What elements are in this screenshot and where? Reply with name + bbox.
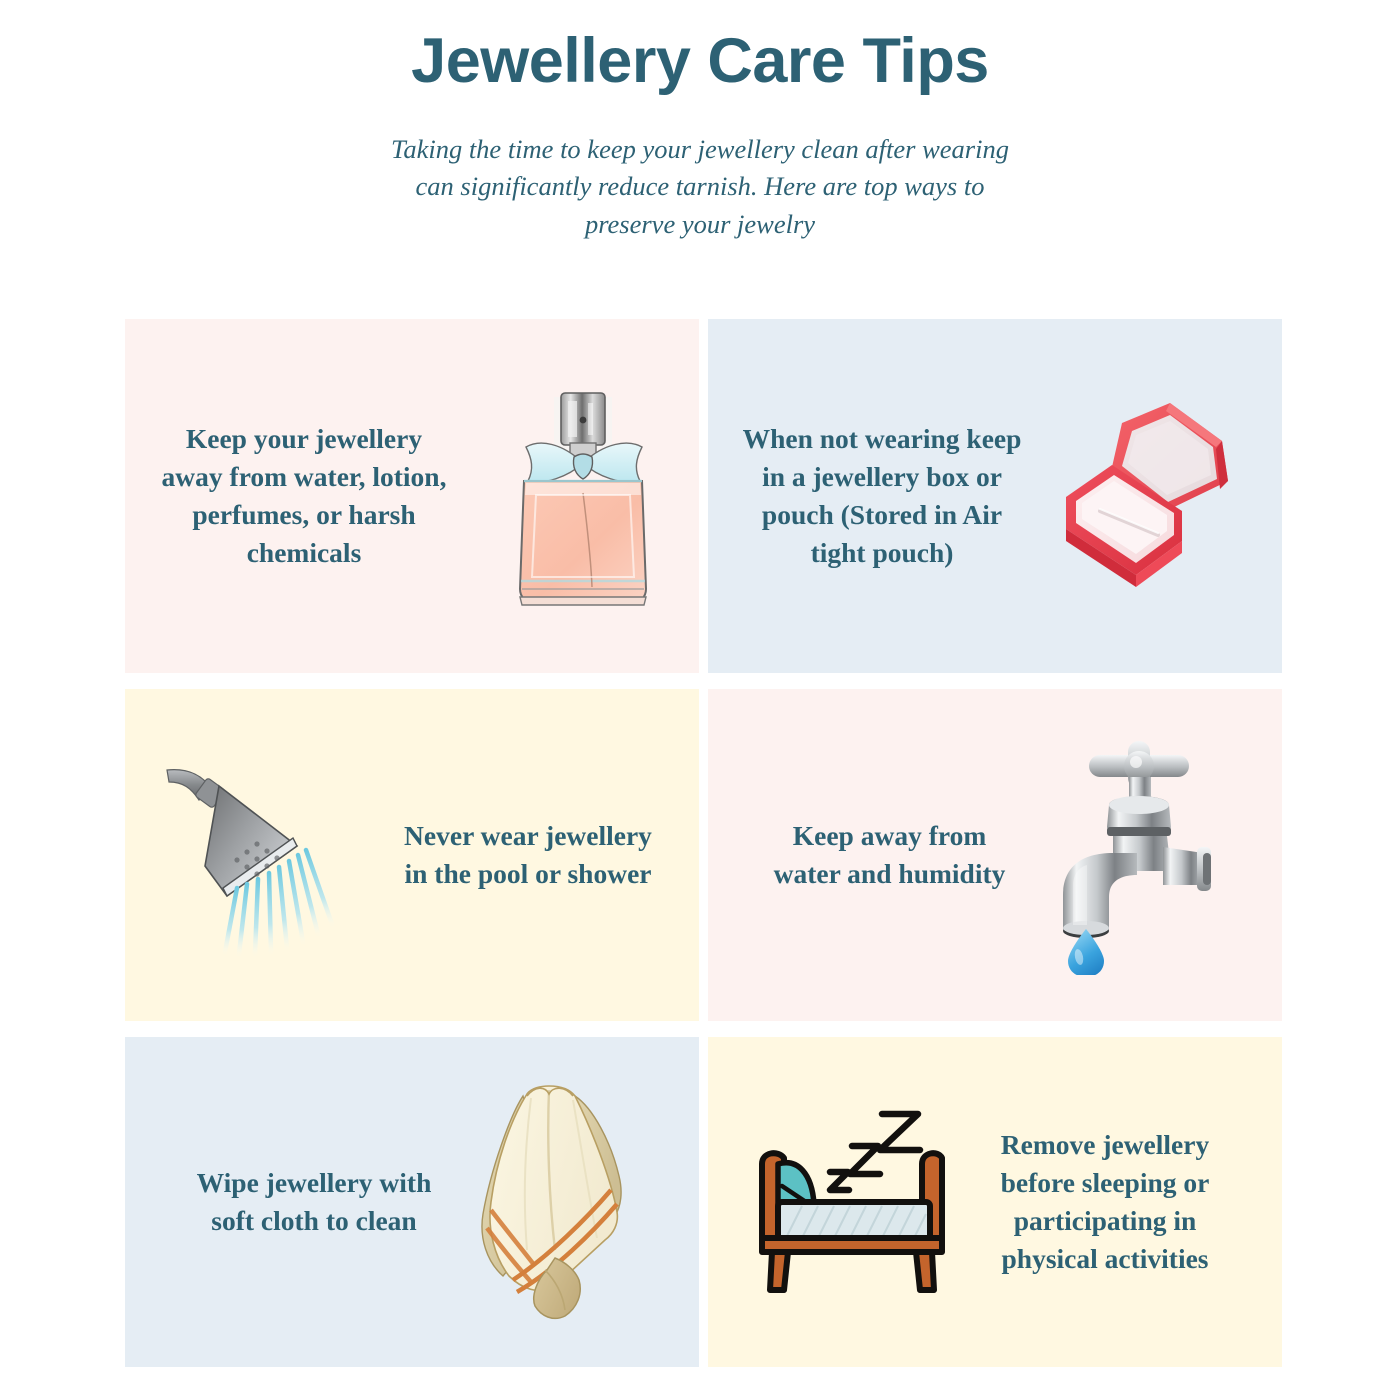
tip-card-store-in-box[interactable]: When not wearing keep in a jewellery box… bbox=[708, 319, 1282, 673]
perfume-bottle-icon bbox=[475, 371, 690, 621]
tip-text: When not wearing keep in a jewellery box… bbox=[722, 420, 1042, 572]
shower-head-icon bbox=[153, 748, 383, 963]
tip-card-no-pool-shower[interactable]: Never wear jewellery in the pool or show… bbox=[125, 689, 699, 1021]
polishing-cloth-icon bbox=[459, 1080, 659, 1325]
faucet-drip-icon bbox=[1027, 735, 1242, 975]
tips-grid: Keep your jewellery away from water, lot… bbox=[125, 319, 1275, 1367]
tip-card-remove-before-sleep[interactable]: Remove jewellery before sleeping or part… bbox=[708, 1037, 1282, 1367]
tip-text: Never wear jewellery in the pool or show… bbox=[383, 817, 673, 893]
tip-text: Keep away from water and humidity bbox=[752, 817, 1027, 893]
tip-card-avoid-humidity[interactable]: Keep away from water and humidity bbox=[708, 689, 1282, 1021]
tip-card-avoid-chemicals[interactable]: Keep your jewellery away from water, lot… bbox=[125, 319, 699, 673]
tip-text: Keep your jewellery away from water, lot… bbox=[139, 420, 469, 572]
sleeping-bed-icon bbox=[736, 1102, 966, 1302]
tip-card-wipe-with-cloth[interactable]: Wipe jewellery with soft cloth to clean bbox=[125, 1037, 699, 1367]
tip-text: Remove jewellery before sleeping or part… bbox=[966, 1126, 1244, 1278]
page-title: Jewellery Care Tips bbox=[0, 26, 1400, 97]
page-subtitle: Taking the time to keep your jewellery c… bbox=[380, 131, 1020, 244]
infographic-page: Jewellery Care Tips Taking the time to k… bbox=[0, 0, 1400, 1400]
ring-box-icon bbox=[1042, 389, 1272, 604]
header: Jewellery Care Tips Taking the time to k… bbox=[0, 0, 1400, 243]
tip-text: Wipe jewellery with soft cloth to clean bbox=[169, 1164, 459, 1240]
